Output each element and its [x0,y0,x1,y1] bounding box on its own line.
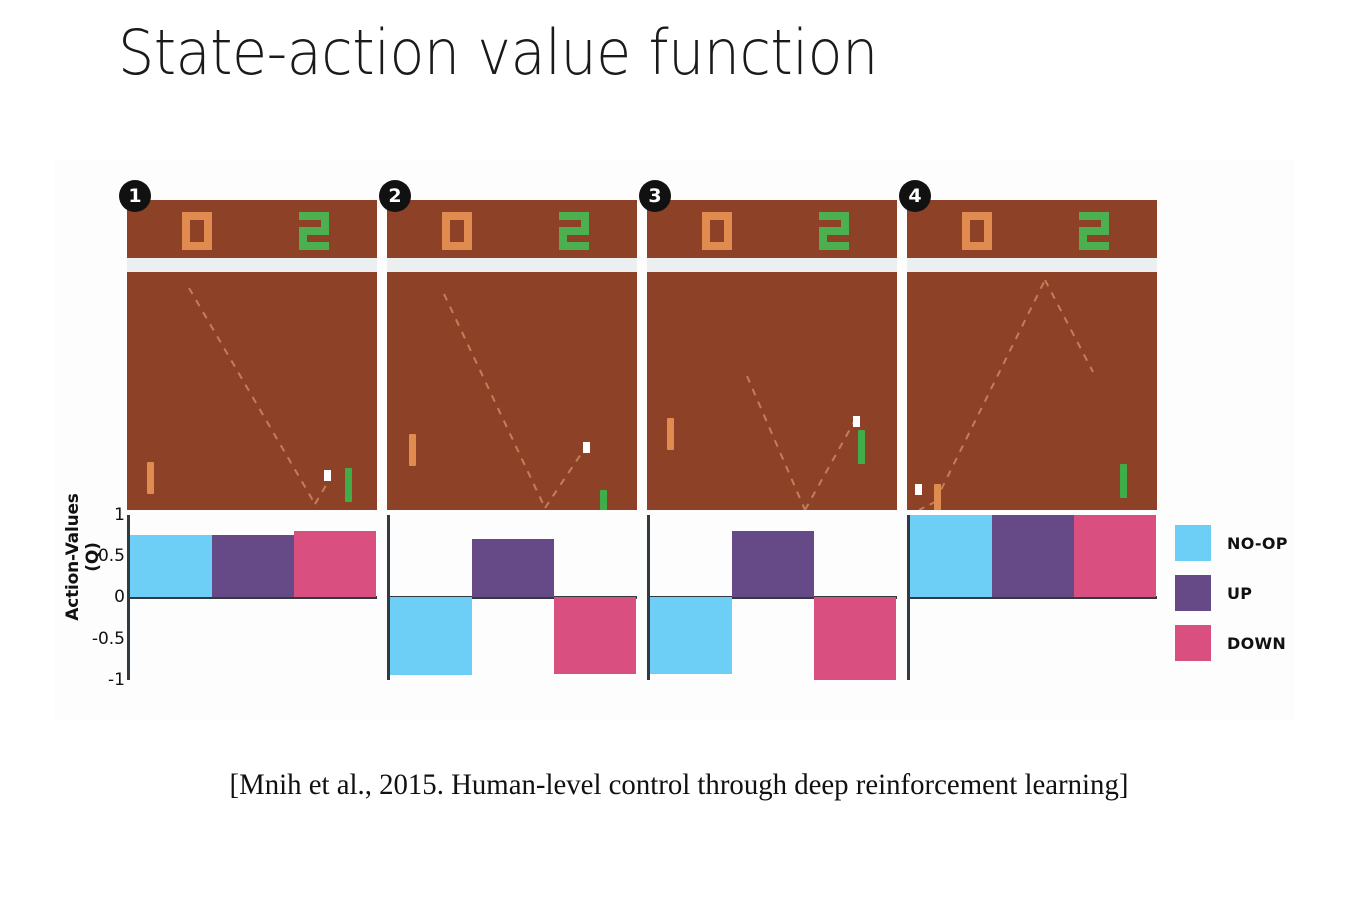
bar-up-1 [212,535,294,597]
score-right-digit [819,212,849,250]
legend-item-up: UP [1175,568,1358,618]
legend-label-noop: NO-OP [1227,534,1288,553]
score-band [387,200,637,258]
chart-legend: NO-OP UP DOWN [1175,518,1358,668]
play-field [127,272,377,510]
play-field [907,272,1157,510]
panel-badge-1: 1 [119,180,151,212]
paddle-right [600,490,607,510]
paddle-left [409,434,416,466]
paddle-left [147,462,154,494]
ball [915,484,922,495]
y-tick-label: 0 [83,587,125,607]
play-field [387,272,637,510]
ball-trajectory-icon [647,272,897,510]
legend-item-down: DOWN [1175,618,1358,668]
game-panel-3 [647,200,897,510]
divider-band [647,258,897,272]
bar-noop-3 [650,597,732,674]
paddle-right [345,468,352,502]
score-right-digit [1079,212,1109,250]
divider-band [127,258,377,272]
bar-down-2 [554,597,636,674]
ball [853,416,860,427]
legend-item-noop: NO-OP [1175,518,1358,568]
legend-label-up: UP [1227,584,1252,603]
score-band [127,200,377,258]
bar-up-4 [992,515,1074,597]
divider-band [907,258,1157,272]
bar-up-2 [472,539,554,597]
game-panel-2 [387,200,637,510]
score-left-digit [962,212,992,250]
legend-swatch-up-icon [1175,575,1211,611]
divider-band [387,258,637,272]
page-title: State-action value function [118,16,878,89]
y-axis-ticks: 1 0.5 0 -0.5 -1 [77,515,125,680]
paddle-right [1120,464,1127,498]
paddle-left [934,484,941,510]
ball-trajectory-icon [387,272,637,510]
play-field [647,272,897,510]
bar-noop-2 [390,597,472,675]
bar-down-4 [1074,515,1156,597]
score-left-digit [442,212,472,250]
panel-badge-3: 3 [639,180,671,212]
y-tick-label: -1 [83,670,125,690]
legend-label-down: DOWN [1227,634,1286,653]
action-value-bar-chart: Action-Values (Q) 1 0.5 0 -0.5 -1 [55,515,1295,700]
y-tick-label: -0.5 [83,629,125,649]
ball-trajectory-icon [127,272,377,510]
y-tick-label: 1 [83,505,125,525]
bar-noop-4 [910,515,992,597]
score-left-digit [702,212,732,250]
score-right-digit [559,212,589,250]
y-tick-label: 0.5 [83,546,125,566]
score-right-digit [299,212,329,250]
game-panel-4 [907,200,1157,510]
bar-down-1 [294,531,376,597]
legend-swatch-noop-icon [1175,525,1211,561]
panel-badge-2: 2 [379,180,411,212]
figure-container: 1 2 [55,160,1295,720]
ball [324,470,331,481]
figure-caption: [Mnih et al., 2015. Human-level control … [27,768,1331,802]
paddle-right [858,430,865,464]
ball [583,442,590,453]
panel-badge-4: 4 [899,180,931,212]
score-left-digit [182,212,212,250]
score-band [647,200,897,258]
bar-down-3 [814,597,896,680]
legend-swatch-down-icon [1175,625,1211,661]
score-band [907,200,1157,258]
bar-noop-1 [130,535,212,597]
game-panel-1 [127,200,377,510]
paddle-left [667,418,674,450]
bar-up-3 [732,531,814,597]
